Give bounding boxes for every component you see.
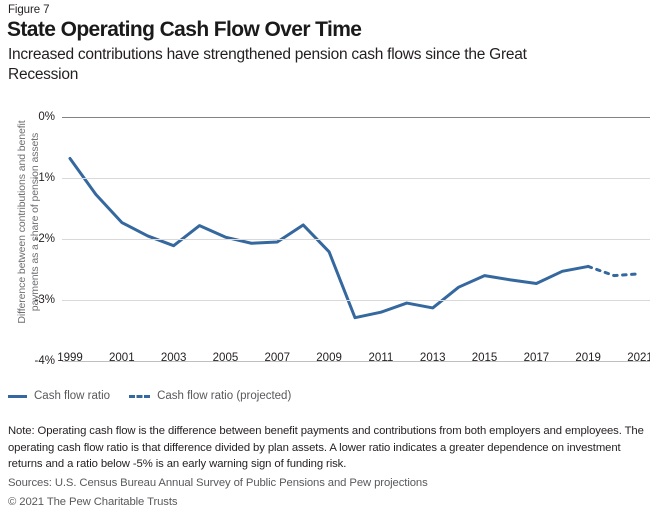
legend-label: Cash flow ratio	[34, 390, 110, 402]
x-axis-tick-label: 2015	[472, 352, 498, 364]
x-axis-tick-label: 2005	[213, 352, 239, 364]
series-lines	[62, 104, 650, 366]
line-series-projected	[588, 266, 640, 275]
y-axis-tick-label: -4%	[35, 355, 55, 367]
gridline	[62, 178, 650, 179]
copyright-text: © 2021 The Pew Charitable Trusts	[8, 496, 177, 508]
gridline	[62, 300, 650, 301]
legend-swatch-solid-icon	[8, 395, 27, 398]
note-text: Note: Operating cash flow is the differe…	[8, 423, 646, 473]
gridline	[62, 117, 650, 118]
y-axis-tick-label: 0%	[38, 111, 55, 123]
y-axis-title: Difference between contributions and ben…	[16, 97, 42, 347]
figure-label: Figure 7	[8, 4, 49, 16]
y-axis-tick-label: -2%	[35, 233, 55, 245]
gridline	[62, 239, 650, 240]
gridline	[62, 361, 650, 362]
y-axis-tick-label: -3%	[35, 294, 55, 306]
legend-item[interactable]: Cash flow ratio	[8, 390, 110, 402]
x-axis-tick-label: 2017	[524, 352, 550, 364]
x-axis-tick-label: 2021	[627, 352, 650, 364]
y-axis-tick-label: -1%	[35, 172, 55, 184]
x-axis-tick-label: 2001	[109, 352, 135, 364]
plot-area: 0%-1%-2%-3%-4%19992001200320052007200920…	[62, 104, 650, 366]
page-title: State Operating Cash Flow Over Time	[7, 18, 361, 42]
x-axis-tick-label: 2011	[369, 352, 394, 364]
x-axis-tick-label: 2009	[316, 352, 342, 364]
page-subtitle: Increased contributions have strengthene…	[8, 45, 583, 85]
x-axis-tick-label: 2019	[575, 352, 601, 364]
legend-swatch-dashed-icon	[129, 395, 150, 398]
legend-label: Cash flow ratio (projected)	[157, 390, 291, 402]
x-axis-tick-label: 2003	[161, 352, 187, 364]
legend-item[interactable]: Cash flow ratio (projected)	[129, 390, 291, 402]
legend: Cash flow ratioCash flow ratio (projecte…	[8, 390, 301, 402]
x-axis-tick-label: 2013	[420, 352, 446, 364]
figure-page: Figure 7 State Operating Cash Flow Over …	[0, 0, 650, 515]
sources-text: Sources: U.S. Census Bureau Annual Surve…	[8, 477, 428, 489]
x-axis-tick-label: 2007	[264, 352, 290, 364]
chart: Difference between contributions and ben…	[0, 104, 650, 366]
x-axis-tick-label: 1999	[57, 352, 83, 364]
